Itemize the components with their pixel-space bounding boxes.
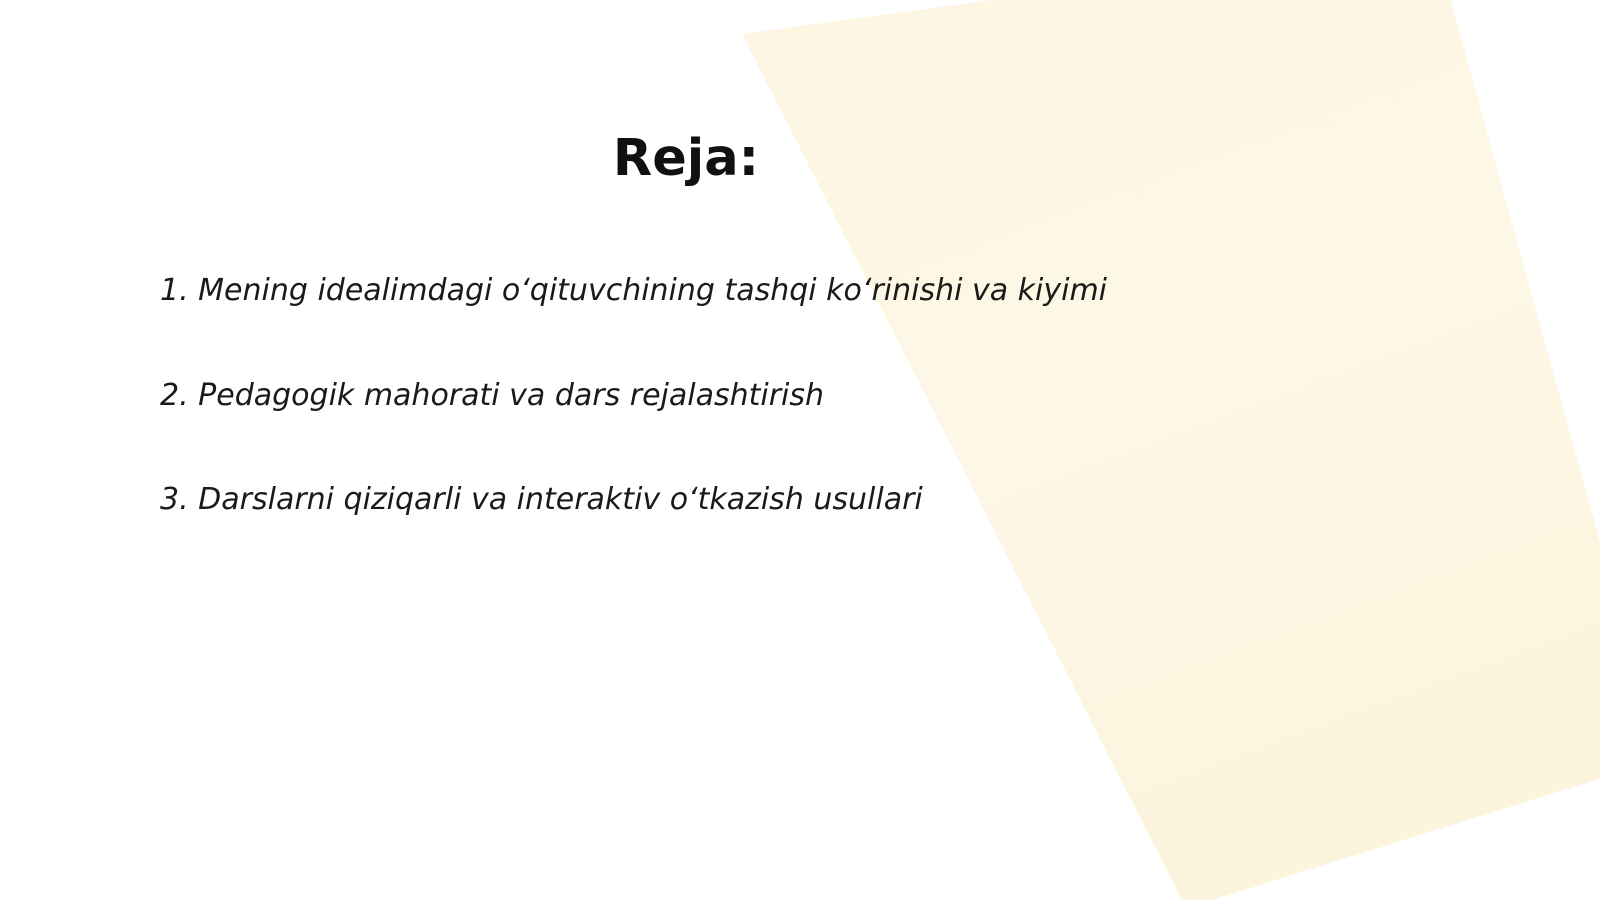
list-item: 1. Mening idealimdagi o‘qituvchining tas… (160, 272, 1460, 310)
list-item: 3. Darslarni qiziqarli va interaktiv o‘t… (160, 481, 1460, 519)
slide-canvas: Reja: 1. Mening idealimdagi o‘qituvchini… (0, 0, 1600, 900)
list-item: 2. Pedagogik mahorati va dars rejalashti… (160, 377, 1460, 415)
slide-content: Reja: 1. Mening idealimdagi o‘qituvchini… (0, 0, 1600, 900)
page-title: Reja: (0, 131, 1372, 187)
plan-list: 1. Mening idealimdagi o‘qituvchining tas… (160, 272, 1460, 519)
